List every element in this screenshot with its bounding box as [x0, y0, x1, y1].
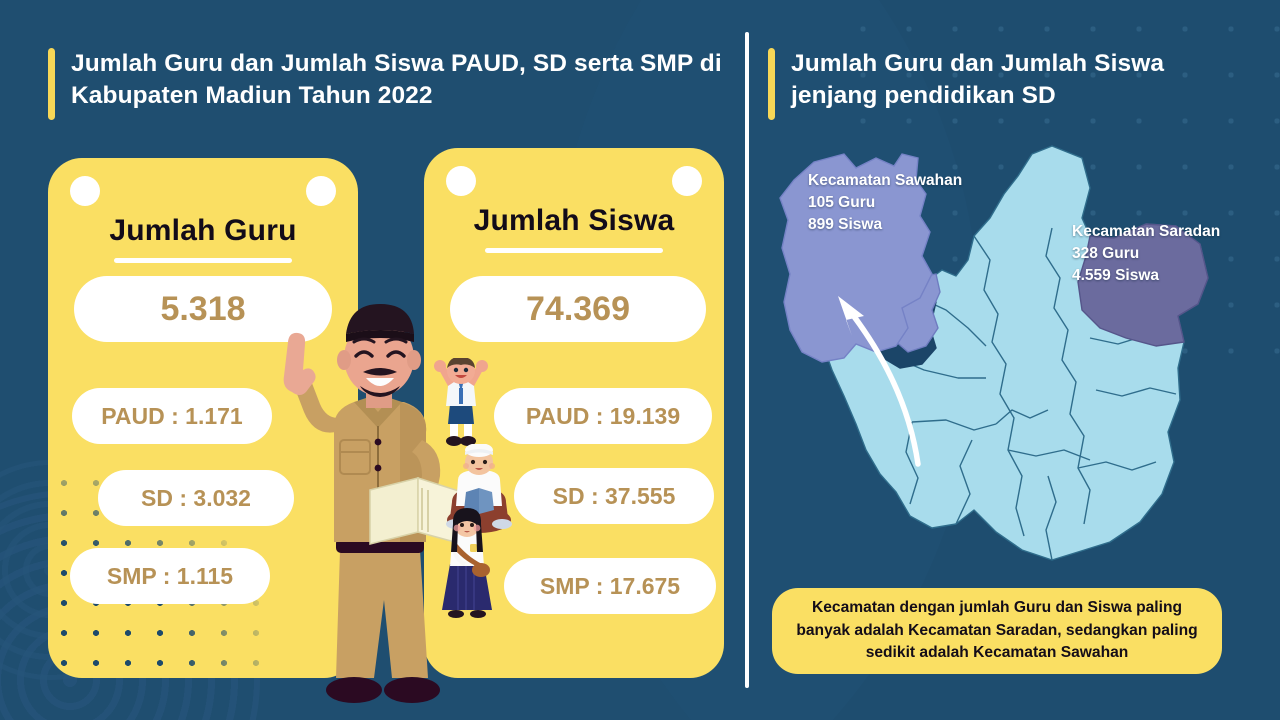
title-accent-bar — [768, 48, 775, 120]
student-smp-illustration — [432, 506, 502, 626]
punch-hole-left-icon — [446, 166, 476, 196]
guru-smp-row: SMP : 1.115 — [70, 548, 270, 604]
map-label-sawahan-siswa: 899 Siswa — [808, 214, 962, 236]
card-title-siswa: Jumlah Siswa — [424, 204, 724, 238]
card-title-guru: Jumlah Guru — [48, 214, 358, 248]
left-title-text: Jumlah Guru dan Jumlah Siswa PAUD, SD se… — [71, 48, 738, 113]
left-panel-title: Jumlah Guru dan Jumlah Siswa PAUD, SD se… — [48, 48, 738, 120]
right-title-text: Jumlah Guru dan Jumlah Siswa jenjang pen… — [791, 48, 1238, 113]
siswa-smp-row: SMP : 17.675 — [504, 558, 716, 614]
map-label-sawahan: Kecamatan Sawahan 105 Guru 899 Siswa — [808, 170, 962, 236]
title-accent-bar — [48, 48, 55, 120]
punch-hole-right-icon — [306, 176, 336, 206]
guru-paud-row: PAUD : 1.171 — [72, 388, 272, 444]
map-label-saradan: Kecamatan Saradan 328 Guru 4.559 Siswa — [1072, 221, 1220, 287]
student-paud-illustration — [428, 358, 494, 448]
map-label-saradan-name: Kecamatan Saradan — [1072, 221, 1220, 243]
map-label-saradan-siswa: 4.559 Siswa — [1072, 265, 1220, 287]
card-title-underline — [485, 248, 663, 253]
map-label-sawahan-guru: 105 Guru — [808, 192, 962, 214]
map-caption-box: Kecamatan dengan jumlah Guru dan Siswa p… — [772, 588, 1222, 674]
siswa-paud-row: PAUD : 19.139 — [494, 388, 712, 444]
siswa-sd-row: SD : 37.555 — [514, 468, 714, 524]
punch-hole-left-icon — [70, 176, 100, 206]
punch-hole-right-icon — [672, 166, 702, 196]
card-title-underline — [114, 258, 292, 263]
map-label-sawahan-name: Kecamatan Sawahan — [808, 170, 962, 192]
right-panel-title: Jumlah Guru dan Jumlah Siswa jenjang pen… — [768, 48, 1238, 120]
map-label-saradan-guru: 328 Guru — [1072, 243, 1220, 265]
panel-divider — [745, 32, 749, 688]
